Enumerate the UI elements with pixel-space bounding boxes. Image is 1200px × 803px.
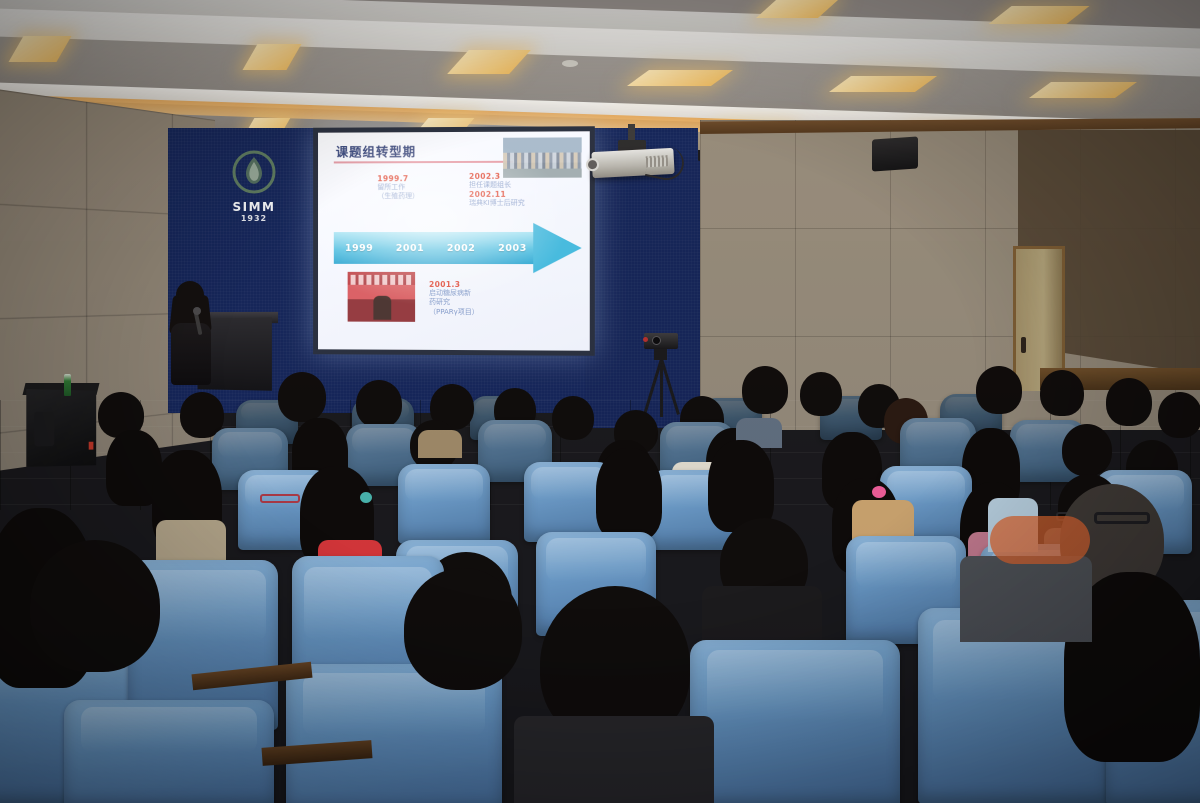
audience-clothing bbox=[418, 430, 462, 458]
presenter bbox=[166, 281, 218, 393]
audience-head bbox=[800, 372, 842, 416]
simm-logo-text: SIMM bbox=[224, 200, 284, 214]
door-handle-icon[interactable] bbox=[1021, 337, 1026, 353]
glasses-icon bbox=[260, 494, 300, 503]
tripod-head bbox=[654, 348, 667, 360]
slide-title-rule bbox=[334, 161, 513, 163]
camera-lens-icon bbox=[652, 336, 661, 345]
projection-screen: 课题组转型期 1999.7 留所工作 （生殖药理） 2002.3 担任课题组长 … bbox=[313, 126, 595, 356]
timeline-year: 2002 bbox=[447, 242, 475, 253]
glasses-icon bbox=[1094, 512, 1150, 524]
audience-clothing bbox=[156, 520, 226, 564]
audience-clothing bbox=[960, 556, 1092, 642]
audience-head bbox=[278, 372, 326, 422]
slide-title: 课题组转型期 bbox=[336, 141, 416, 160]
timeline-year: 1999 bbox=[345, 242, 373, 253]
timeline-year: 2001 bbox=[396, 242, 424, 253]
seat bbox=[64, 700, 274, 803]
projector-lens-icon bbox=[586, 158, 600, 172]
camera-icon bbox=[644, 333, 678, 349]
water-bottle-icon bbox=[64, 374, 71, 396]
slide-date: 2001.3 bbox=[429, 280, 479, 289]
tripod-leg bbox=[660, 359, 680, 415]
slide-date: 2002.3 bbox=[469, 172, 525, 181]
slide-block-2: 2002.3 担任课题组长 2002.11 瑞典KI博士后研究 bbox=[469, 172, 525, 209]
audience-head bbox=[596, 448, 662, 540]
slide-block-3: 2001.3 启动糖尿病新 药研究 （PPARγ项目） bbox=[429, 280, 479, 317]
slide-date: 1999.7 bbox=[377, 174, 419, 183]
audience-clothing bbox=[702, 586, 822, 642]
audience-head bbox=[30, 540, 160, 672]
camera-record-light-icon bbox=[643, 337, 648, 342]
audience-clothing bbox=[514, 716, 714, 803]
simm-logo: SIMM 1932 bbox=[224, 150, 284, 222]
audience-head bbox=[1106, 378, 1152, 426]
audience-head bbox=[976, 366, 1022, 414]
ceiling-light-icon bbox=[988, 6, 1089, 24]
slide-line: 药研究 bbox=[429, 298, 479, 308]
hair-tie-icon bbox=[872, 486, 886, 498]
audience-head bbox=[552, 396, 594, 440]
slide-content: 课题组转型期 1999.7 留所工作 （生殖药理） 2002.3 担任课题组长 … bbox=[318, 131, 590, 350]
slide-line: 瑞典KI博士后研究 bbox=[469, 199, 525, 209]
slide-line: 担任课题组长 bbox=[469, 181, 525, 191]
seat bbox=[690, 640, 900, 803]
audience-head bbox=[1062, 424, 1112, 476]
audience-head bbox=[742, 366, 788, 414]
presenter-hair bbox=[176, 281, 204, 327]
simm-logo-mark-icon bbox=[224, 150, 284, 198]
timeline-arrow-head-icon bbox=[533, 223, 581, 273]
audience-head bbox=[1040, 370, 1084, 416]
hair-tie-icon bbox=[360, 492, 372, 503]
tripod-leg bbox=[660, 359, 663, 417]
timeline-year: 2003 bbox=[498, 243, 527, 254]
smoke-detector-icon bbox=[562, 60, 578, 67]
slide-line: （PPARγ项目） bbox=[429, 308, 479, 318]
presenter-body bbox=[171, 323, 211, 385]
slide-block-1: 1999.7 留所工作 （生殖药理） bbox=[377, 174, 419, 202]
slide-photo-award bbox=[348, 272, 415, 322]
lecture-hall-photo: SIMM 1932 课题组转型期 1999.7 留所工作 （生殖药理） 2002… bbox=[0, 0, 1200, 803]
scarf-icon bbox=[990, 516, 1090, 564]
ceiling-speaker-icon bbox=[872, 136, 918, 171]
audience-head bbox=[404, 568, 522, 690]
slide-line: （生殖药理） bbox=[377, 193, 419, 203]
slide-timeline-arrow: 1999 2001 2002 2003 bbox=[334, 227, 584, 269]
microphone-head-icon bbox=[193, 307, 201, 315]
audience-head bbox=[1158, 392, 1200, 438]
timeline-year-labels: 1999 2001 2002 2003 bbox=[334, 232, 538, 264]
speaker-led-icon bbox=[89, 442, 94, 450]
audience-head bbox=[356, 380, 402, 428]
floor-speaker-icon bbox=[26, 389, 96, 467]
seat bbox=[398, 464, 490, 544]
simm-logo-year: 1932 bbox=[224, 214, 284, 223]
